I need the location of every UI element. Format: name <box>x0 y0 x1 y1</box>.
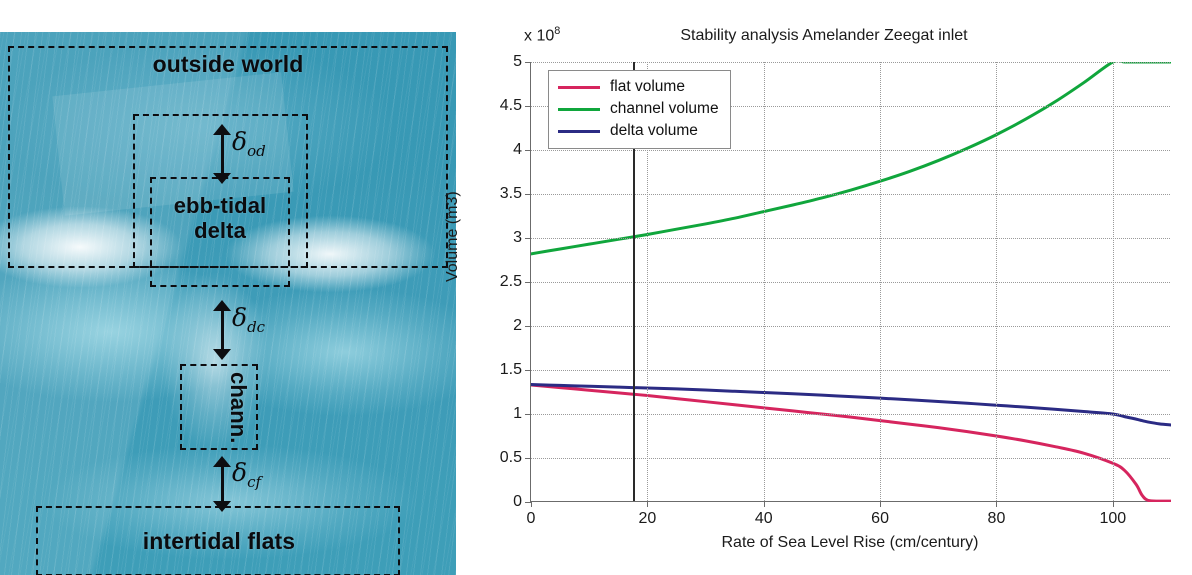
y-tick-label: 4.5 <box>500 97 522 115</box>
y-tick-label: 5 <box>513 53 522 71</box>
y-tick-label: 3 <box>513 229 522 247</box>
legend-item[interactable]: delta volume <box>558 120 719 142</box>
satellite-image-panel: outside world ebb-tidal delta chann. int… <box>0 32 456 575</box>
x-tick-mark <box>996 501 997 507</box>
y-tick-label: 0.5 <box>500 449 522 467</box>
delta-cf-symbol: δcf <box>232 458 261 491</box>
y-tick-label: 1.5 <box>500 361 522 379</box>
delta-sub-dc: dc <box>247 318 265 336</box>
double-arrow-icon-dc <box>211 300 233 360</box>
label-channel: chann. <box>188 372 250 444</box>
x-tick-mark <box>764 501 765 507</box>
x-tick-label: 0 <box>527 510 536 528</box>
legend-label: flat volume <box>610 78 685 96</box>
delta-od-symbol: δod <box>232 127 266 160</box>
y-tick-mark <box>525 282 531 283</box>
stability-chart-panel: x 108 Stability analysis Amelander Zeega… <box>456 0 1192 575</box>
legend-item[interactable]: flat volume <box>558 76 719 98</box>
plot-area: flat volumechannel volumedelta volume 00… <box>530 62 1170 502</box>
double-arrow-icon-cf <box>211 456 233 512</box>
chart-legend: flat volumechannel volumedelta volume <box>548 70 731 149</box>
y-tick-label: 2 <box>513 317 522 335</box>
x-tick-label: 60 <box>871 510 889 528</box>
y-tick-mark <box>525 326 531 327</box>
label-ebb-tidal-delta-line2: delta <box>194 218 246 243</box>
y-tick-mark <box>525 370 531 371</box>
label-intertidal-flats: intertidal flats <box>56 529 382 555</box>
x-tick-mark <box>531 501 532 507</box>
x-axis-label: Rate of Sea Level Rise (cm/century) <box>530 534 1170 552</box>
double-arrow-icon-od <box>211 124 233 184</box>
x-tick-label: 40 <box>755 510 773 528</box>
y-tick-label: 1 <box>513 405 522 423</box>
x-tick-mark <box>647 501 648 507</box>
x-tick-label: 80 <box>988 510 1006 528</box>
label-ebb-tidal-delta: ebb-tidal delta <box>155 194 285 243</box>
delta-glyph-dc: δ <box>232 303 247 332</box>
x-tick-label: 100 <box>1099 510 1126 528</box>
delta-sub-cf: cf <box>247 473 261 491</box>
y-tick-label: 4 <box>513 141 522 159</box>
y-tick-mark <box>525 458 531 459</box>
delta-dc-symbol: δdc <box>232 303 265 336</box>
y-tick-mark <box>525 238 531 239</box>
series-line-flat-volume <box>531 385 1171 501</box>
legend-color-swatch <box>558 130 600 133</box>
legend-color-swatch <box>558 108 600 111</box>
x-tick-label: 20 <box>638 510 656 528</box>
delta-sub-od: od <box>247 142 266 160</box>
y-axis-label: Volume (m3) <box>444 191 462 282</box>
y-tick-label: 0 <box>513 493 522 511</box>
legend-label: channel volume <box>610 100 719 118</box>
y-tick-mark <box>525 106 531 107</box>
y-tick-mark <box>525 414 531 415</box>
y-tick-label: 3.5 <box>500 185 522 203</box>
series-line-delta-volume <box>531 385 1171 425</box>
delta-glyph-cf: δ <box>232 458 247 487</box>
delta-glyph-od: δ <box>232 127 247 156</box>
legend-item[interactable]: channel volume <box>558 98 719 120</box>
figure-root: outside world ebb-tidal delta chann. int… <box>0 0 1192 575</box>
x-tick-mark <box>1113 501 1114 507</box>
legend-label: delta volume <box>610 122 698 140</box>
x-tick-mark <box>880 501 881 507</box>
label-ebb-tidal-delta-line1: ebb-tidal <box>174 193 267 218</box>
y-tick-mark <box>525 194 531 195</box>
chart-title: Stability analysis Amelander Zeegat inle… <box>456 27 1192 45</box>
label-outside-world: outside world <box>108 52 348 78</box>
y-tick-mark <box>525 62 531 63</box>
y-tick-label: 2.5 <box>500 273 522 291</box>
y-tick-mark <box>525 150 531 151</box>
legend-color-swatch <box>558 86 600 89</box>
